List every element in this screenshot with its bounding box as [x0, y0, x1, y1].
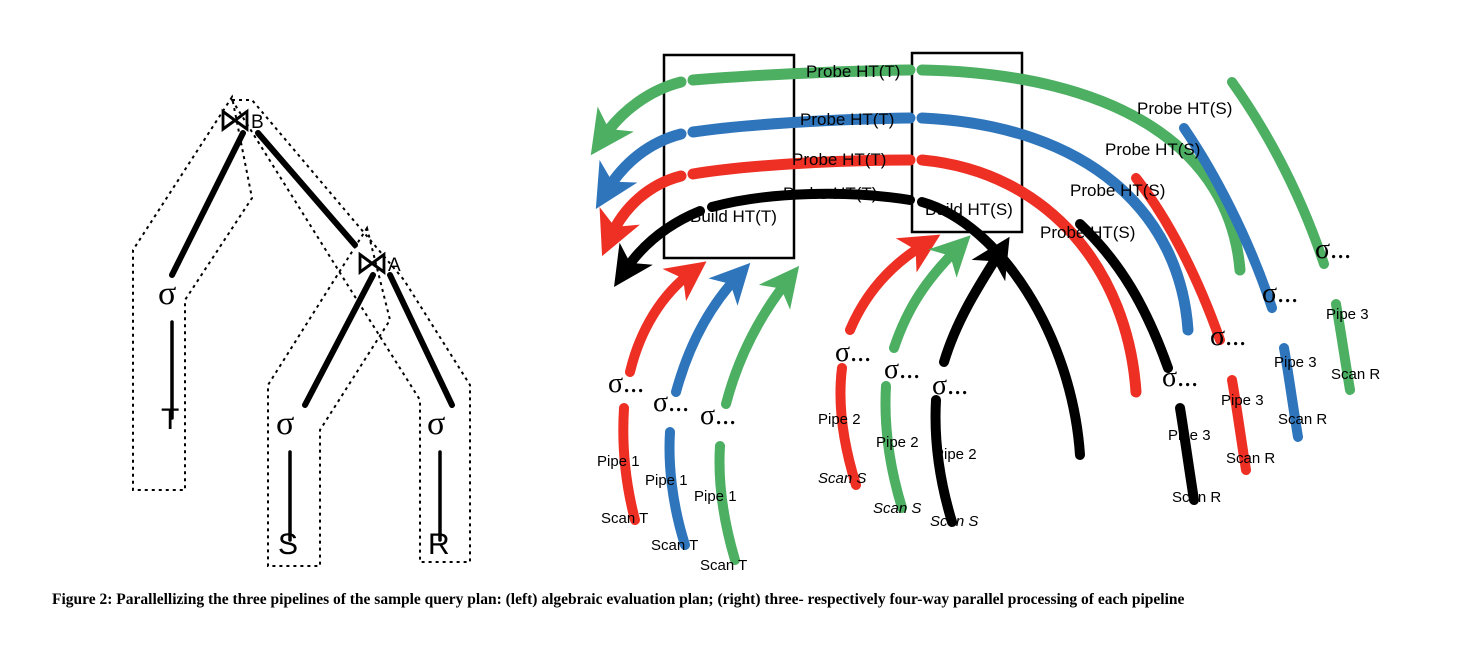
scan3-label-black: Scan R — [1172, 489, 1221, 506]
figure-root: ⋈ B ⋈ A σ σ σ T S R — [0, 0, 1480, 652]
probe-ht-t-label-green: Probe HT(T) — [806, 62, 900, 82]
sigma-marker-pipe3-blue: σ... — [1262, 278, 1298, 310]
pipe2-label-green: Pipe 2 — [876, 434, 919, 451]
select-s-symbol: σ — [276, 405, 294, 443]
select-r-symbol: σ — [427, 405, 445, 443]
scan1-label-blue: Scan T — [651, 537, 698, 554]
scan3-label-blue: Scan R — [1278, 411, 1327, 428]
relation-s-label: S — [278, 528, 298, 562]
pipe3-label-black: Pipe 3 — [1168, 427, 1211, 444]
tree-leaf-edges — [172, 322, 440, 540]
pipe2-label-black: Pipe 2 — [934, 446, 977, 463]
pipe3-label-red: Pipe 3 — [1221, 392, 1264, 409]
pipe1-label-red: Pipe 1 — [597, 453, 640, 470]
scan3-label-green: Scan R — [1331, 366, 1380, 383]
sigma-marker-pipe1-red: σ... — [608, 368, 644, 400]
relation-t-label: T — [161, 403, 179, 437]
probe-ht-s-label-black: Probe HT(S) — [1040, 223, 1135, 243]
scan2-label-red: Scan S — [818, 470, 866, 487]
scan1-label-red: Scan T — [601, 510, 648, 527]
probe-ht-t-label-blue: Probe HT(T) — [800, 110, 894, 130]
scan2-label-green: Scan S — [873, 500, 921, 517]
build-ht-s-label: Build HT(S) — [925, 200, 1013, 220]
sigma-marker-pipe2-green: σ... — [884, 354, 920, 386]
pipe1-label-green: Pipe 1 — [694, 488, 737, 505]
probe-ht-s-label-blue: Probe HT(S) — [1105, 140, 1200, 160]
sigma-marker-pipe2-red: σ... — [835, 337, 871, 369]
probe-ht-s-label-green: Probe HT(S) — [1137, 99, 1232, 119]
select-t-symbol: σ — [158, 275, 176, 313]
scan1-label-green: Scan T — [700, 557, 747, 574]
sigma-marker-pipe1-green: σ... — [700, 400, 736, 432]
scan2-label-black: Scan S — [930, 513, 978, 530]
sigma-marker-pipe1-blue: σ... — [653, 387, 689, 419]
sigma-marker-pipe3-red: σ... — [1210, 321, 1246, 353]
pipe2-label-red: Pipe 2 — [818, 411, 861, 428]
left-plan-svg — [0, 0, 560, 590]
probe-ht-t-label-black: Probe HT(T) — [783, 184, 877, 204]
pipeline-outline-r — [232, 100, 470, 562]
join-a-label: A — [388, 255, 401, 277]
probe-ht-t-label-red: Probe HT(T) — [792, 150, 886, 170]
tree-edges — [172, 133, 452, 405]
build-ht-t-label: Build HT(T) — [690, 207, 777, 227]
scan3-label-red: Scan R — [1226, 450, 1275, 467]
join-b-symbol: ⋈ — [218, 100, 252, 140]
sigma-marker-pipe3-black: σ... — [1162, 362, 1198, 394]
pipe1-label-blue: Pipe 1 — [645, 472, 688, 489]
pipe3-label-blue: Pipe 3 — [1274, 354, 1317, 371]
probe-ht-s-label-red: Probe HT(S) — [1070, 181, 1165, 201]
join-a-symbol: ⋈ — [355, 243, 389, 283]
pipe3-label-green: Pipe 3 — [1326, 306, 1369, 323]
sigma-marker-pipe2-black: σ... — [932, 370, 968, 402]
sigma-marker-pipe3-green: σ... — [1315, 234, 1351, 266]
figure-caption: Figure 2: Parallellizing the three pipel… — [52, 588, 1442, 611]
relation-r-label: R — [428, 528, 450, 562]
join-b-label: B — [251, 112, 264, 134]
